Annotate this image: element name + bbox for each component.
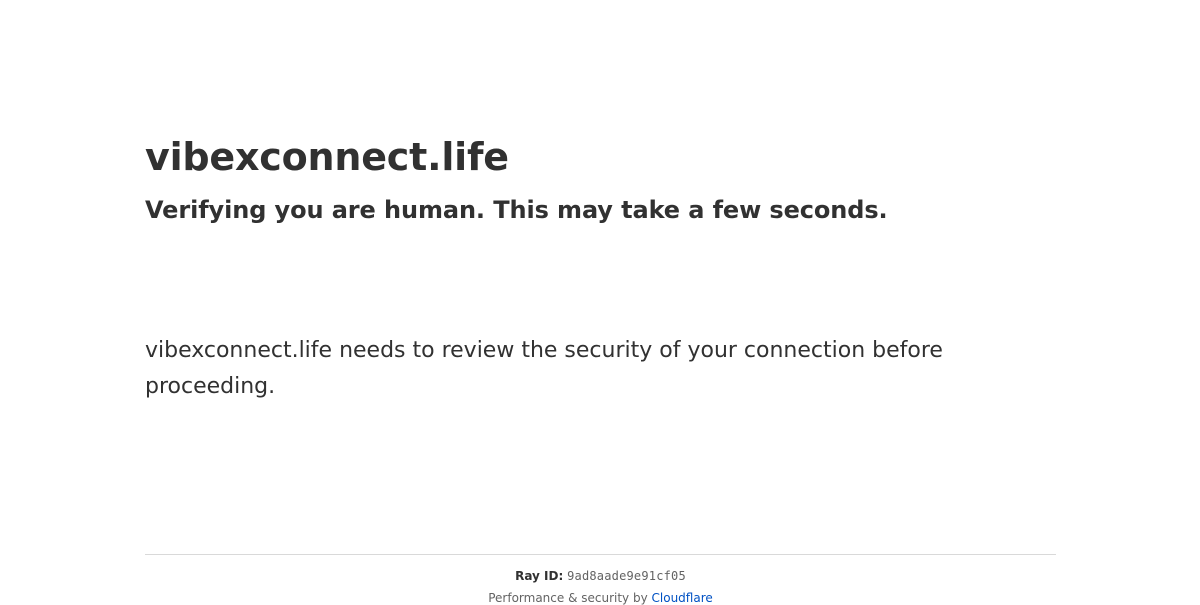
attribution-line: Performance & security by Cloudflare [145,583,1056,605]
turnstile-widget-area[interactable] [145,237,1056,333]
footer-content: Ray ID: 9ad8aade9e91cf05 Performance & s… [145,555,1056,605]
challenge-description: vibexconnect.life needs to review the se… [145,333,945,405]
ray-id-label: Ray ID: [515,569,563,583]
challenge-status-text: Verifying you are human. This may take a… [145,181,1056,225]
ray-id-value: 9ad8aade9e91cf05 [567,569,686,583]
ray-id-line: Ray ID: 9ad8aade9e91cf05 [145,569,1056,583]
attribution-prefix: Performance & security by [488,591,651,605]
page-title: vibexconnect.life [145,0,1056,181]
challenge-content: vibexconnect.life Verifying you are huma… [145,0,1056,405]
challenge-page: vibexconnect.life Verifying you are huma… [0,0,1200,600]
cloudflare-link[interactable]: Cloudflare [652,591,713,605]
page-footer: Ray ID: 9ad8aade9e91cf05 Performance & s… [145,554,1056,605]
